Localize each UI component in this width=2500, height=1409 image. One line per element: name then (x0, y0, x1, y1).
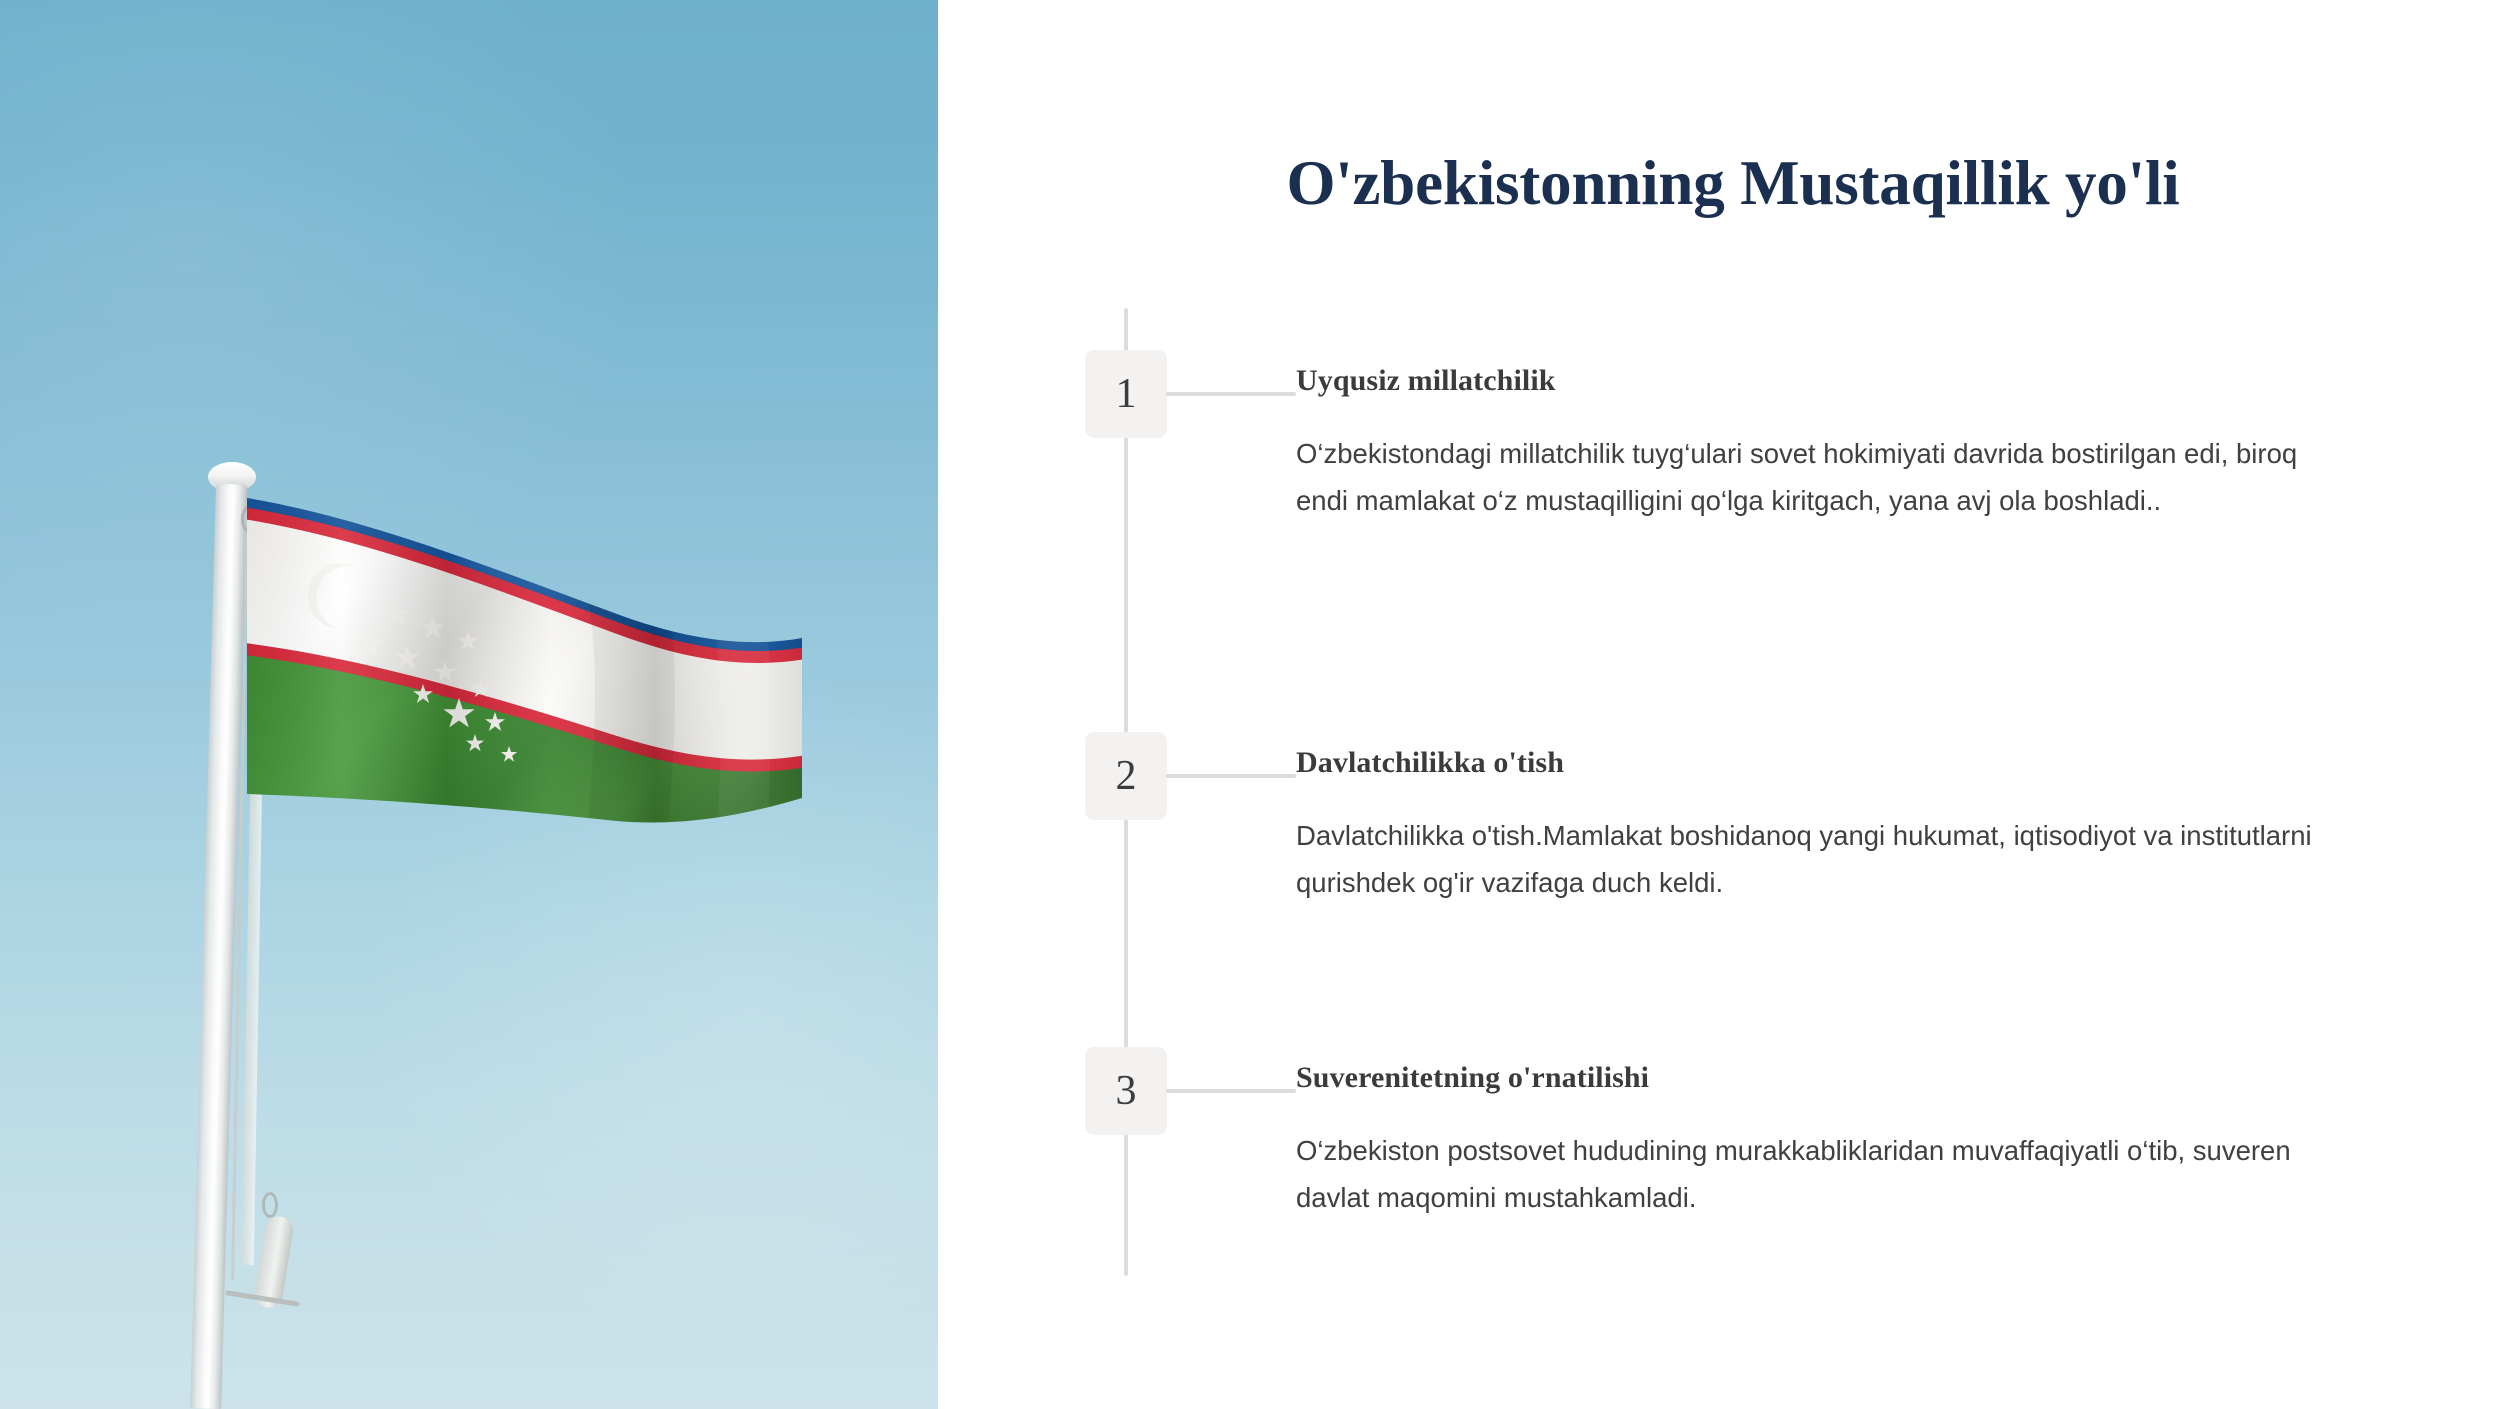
step-connector-line (1166, 1089, 1296, 1093)
step-number-badge[interactable]: 2 (1085, 732, 1167, 820)
timeline: 1 Uyqusiz millatchilik O‘zbekistondagi m… (938, 0, 2500, 1409)
step-number-badge[interactable]: 3 (1085, 1047, 1167, 1135)
step-heading: Davlatchilikka o'tish (1296, 744, 2396, 782)
halyard-clip-bottom-icon (262, 1192, 278, 1218)
step-heading: Suverenitetning o'rnatilishi (1296, 1059, 2396, 1097)
content-panel: O'zbekistonning Mustaqillik yo'li 1 Uyqu… (938, 0, 2500, 1409)
flag-photo-panel (0, 0, 938, 1409)
step-number-badge[interactable]: 1 (1085, 350, 1167, 438)
step-body-text: O‘zbekiston postsovet hududining murakka… (1296, 1127, 2356, 1221)
step-body-text: O‘zbekistondagi millatchilik tuyg‘ulari … (1296, 430, 2356, 524)
step-heading: Uyqusiz millatchilik (1296, 362, 2396, 400)
uzbekistan-flag (247, 498, 802, 878)
step-connector-line (1166, 774, 1296, 778)
step-body-text: Davlatchilikka o'tish.Mamlakat boshidano… (1296, 812, 2356, 906)
step-connector-line (1166, 392, 1296, 396)
slide-root: O'zbekistonning Mustaqillik yo'li 1 Uyqu… (0, 0, 2500, 1409)
